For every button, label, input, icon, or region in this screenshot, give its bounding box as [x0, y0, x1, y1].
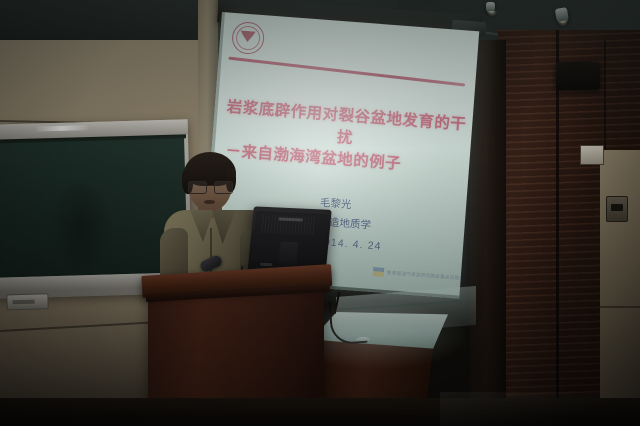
slide-footer-logo: 教育部油气资源研究国家重点实验室: [373, 267, 465, 283]
ceiling-spotlight-icon: [486, 2, 495, 13]
slide-accent-rule: [228, 57, 465, 87]
corner-column-beige: [600, 150, 640, 426]
chalkboard-shadow: [49, 182, 114, 276]
presenter-mouth: [204, 200, 215, 204]
av-equipment-box: [556, 62, 600, 90]
wall-power-outlet: [606, 196, 628, 222]
lecture-hall-scene: 岩浆底辟作用对裂谷盆地发育的干扰 －来自渤海湾盆地的例子 毛黎光 构造地质学 2…: [0, 0, 640, 426]
corner-column-dark: [470, 40, 506, 426]
eyeglasses: [187, 181, 233, 192]
ceiling-spotlight-icon: [555, 7, 569, 24]
wall-placard: [580, 145, 604, 165]
slide-presenter-block: 毛黎光 构造地质学 2014. 4. 24: [316, 194, 470, 263]
eyeglass-lens-right: [214, 181, 233, 194]
slide-title-line-1: 岩浆底辟作用对裂谷盆地发育的干扰: [226, 99, 467, 147]
monitor-power-button[interactable]: [260, 263, 272, 267]
lab-logo-icon: [373, 267, 385, 277]
column-panel-seam: [600, 306, 640, 308]
eyeglass-bridge: [205, 185, 214, 186]
eyeglass-lens-left: [188, 181, 207, 194]
university-seal-logo: [231, 21, 265, 55]
chalk-eraser: [6, 293, 48, 310]
lab-name-text: 教育部油气资源研究国家重点实验室: [387, 270, 465, 282]
floor-reflection: [440, 392, 640, 426]
